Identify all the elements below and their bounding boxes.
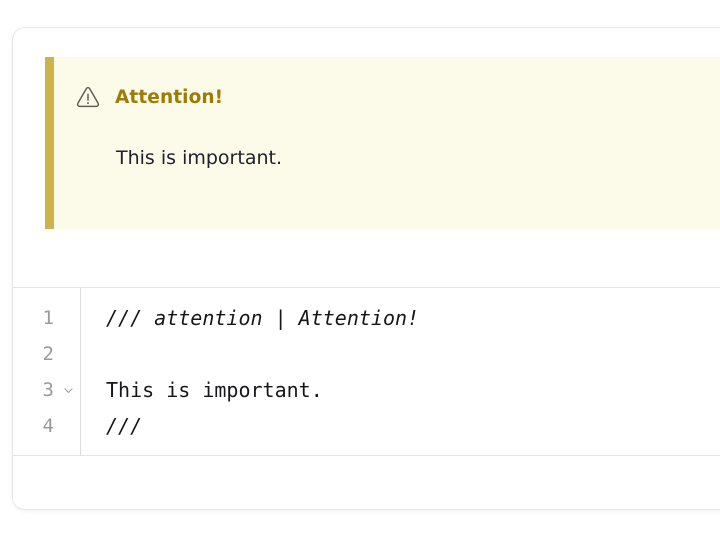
chevron-down-icon[interactable] [61, 372, 75, 408]
line-number: 4 [43, 408, 54, 444]
code-line[interactable] [106, 336, 720, 372]
screenshot-viewport: Attention! This is important. 1 2 3 [0, 0, 720, 544]
code-line[interactable]: /// [106, 408, 720, 444]
admonition-title-row: Attention! [75, 84, 223, 110]
code-line[interactable]: This is important. [106, 372, 720, 408]
rendered-preview-pane: Attention! This is important. [13, 28, 720, 288]
gutter-row: 1 [13, 300, 80, 336]
line-number: 3 [43, 372, 54, 408]
attention-admonition: Attention! This is important. [45, 57, 720, 229]
source-code-pane[interactable]: 1 2 3 4 / [13, 288, 720, 456]
line-number-gutter: 1 2 3 4 [13, 288, 81, 455]
markdown-admonition-preview-card: Attention! This is important. 1 2 3 [12, 27, 720, 510]
admonition-body-text: This is important. [116, 147, 282, 169]
code-text-area[interactable]: /// attention | Attention! This is impor… [81, 288, 720, 455]
admonition-title-text: Attention! [115, 87, 223, 108]
gutter-row: 4 [13, 408, 80, 444]
warning-triangle-icon [75, 84, 101, 110]
card-footer [13, 457, 720, 509]
gutter-row: 2 [13, 336, 80, 372]
code-line[interactable]: /// attention | Attention! [106, 300, 720, 336]
line-number: 2 [43, 336, 54, 372]
line-number: 1 [43, 300, 54, 336]
gutter-row: 3 [13, 372, 80, 408]
